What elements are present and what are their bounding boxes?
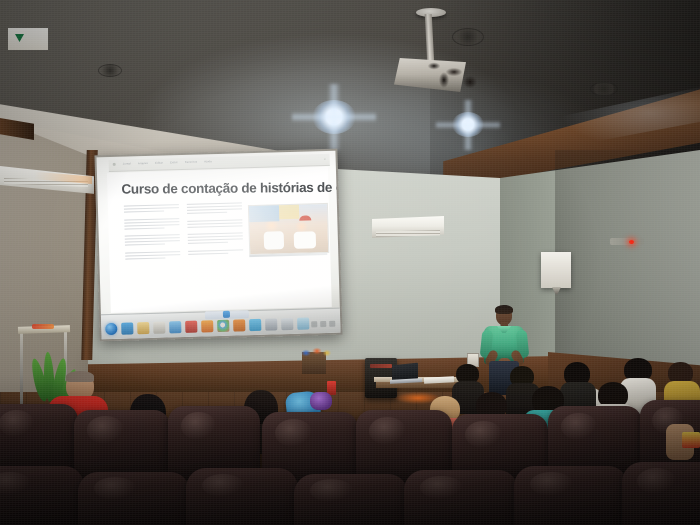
pdf-icon[interactable] <box>185 321 197 333</box>
downlight-left-glare <box>292 84 376 150</box>
browser-tab-icon <box>113 162 116 165</box>
excel-icon[interactable] <box>281 318 293 330</box>
article-page: Curso de contação de histórias de graça <box>107 167 332 313</box>
office-icon[interactable] <box>233 319 245 331</box>
chrome-icon[interactable] <box>217 320 229 332</box>
article-columns <box>124 202 244 261</box>
os-taskbar[interactable] <box>101 308 341 340</box>
downlight-far-left-icon <box>98 64 122 77</box>
article-column-2 <box>187 202 244 259</box>
projector-cables <box>420 56 486 98</box>
article-column-1 <box>124 204 181 261</box>
close-icon[interactable]: x <box>324 157 326 161</box>
seat[interactable] <box>404 470 518 525</box>
browser-menu[interactable]: Jornal Arquivo Editar Exibir Favoritos A… <box>113 160 212 166</box>
projection-screen[interactable]: Jornal Arquivo Editar Exibir Favoritos A… <box>94 149 342 342</box>
menu-item-ajuda[interactable]: Ajuda <box>204 160 212 163</box>
easel-sign <box>8 28 48 50</box>
photo-person-2 <box>294 231 316 249</box>
network-icon[interactable] <box>311 321 317 327</box>
photo-background-yellow <box>279 205 299 220</box>
taskbar-icons[interactable] <box>121 317 309 334</box>
audience-hair <box>66 371 94 382</box>
menu-item-editar[interactable]: Editar <box>155 161 163 164</box>
wall-speaker <box>541 252 571 288</box>
word-icon[interactable] <box>265 318 277 330</box>
firefox-icon[interactable] <box>201 320 213 332</box>
article-photo <box>248 203 329 255</box>
downlight-far-right-icon <box>590 82 618 96</box>
menu-item-exibir[interactable]: Exibir <box>170 161 178 164</box>
seat[interactable] <box>186 468 298 525</box>
menu-item-arquivo[interactable]: Arquivo <box>138 161 148 164</box>
taskbar-tray[interactable] <box>311 321 335 328</box>
photo-red-cap-icon <box>299 215 311 220</box>
photo-background-blue <box>249 205 279 222</box>
downlight-right-glare <box>436 100 500 150</box>
downlight-projector-side-icon <box>452 28 484 46</box>
flyer <box>682 432 700 448</box>
seat[interactable] <box>622 462 700 525</box>
seat[interactable] <box>0 466 84 525</box>
led-indicator-icon <box>629 240 634 244</box>
media-player-icon[interactable] <box>153 322 165 334</box>
projection-screen-surface: Jornal Arquivo Editar Exibir Favoritos A… <box>97 151 341 340</box>
clock[interactable] <box>329 321 335 327</box>
mail-icon[interactable] <box>169 321 181 333</box>
auditorium-photo: Jornal Arquivo Editar Exibir Favoritos A… <box>0 0 700 525</box>
powerpoint-icon[interactable] <box>297 317 309 329</box>
article-headline: Curso de contação de histórias de graça <box>121 181 331 197</box>
start-button-icon[interactable] <box>105 323 117 335</box>
sensor-bracket <box>610 238 644 245</box>
seat[interactable] <box>514 466 628 525</box>
skype-icon[interactable] <box>249 319 261 331</box>
volume-icon[interactable] <box>320 321 326 327</box>
easel-red-item <box>32 324 54 329</box>
browser-tab-label[interactable]: Jornal <box>123 162 131 165</box>
audience-member <box>666 424 700 468</box>
presenter-hair <box>495 305 513 314</box>
box-contents <box>300 346 332 358</box>
easel-leg-left <box>20 332 23 406</box>
purple-bag <box>310 392 332 410</box>
browser-icon[interactable] <box>121 322 133 334</box>
seat[interactable] <box>78 472 190 525</box>
seat[interactable] <box>294 474 408 525</box>
menu-item-favoritos[interactable]: Favoritos <box>185 160 198 163</box>
taskbar-notification-icon[interactable] <box>223 311 230 318</box>
photo-person-1 <box>264 231 284 250</box>
explorer-icon[interactable] <box>137 322 149 334</box>
